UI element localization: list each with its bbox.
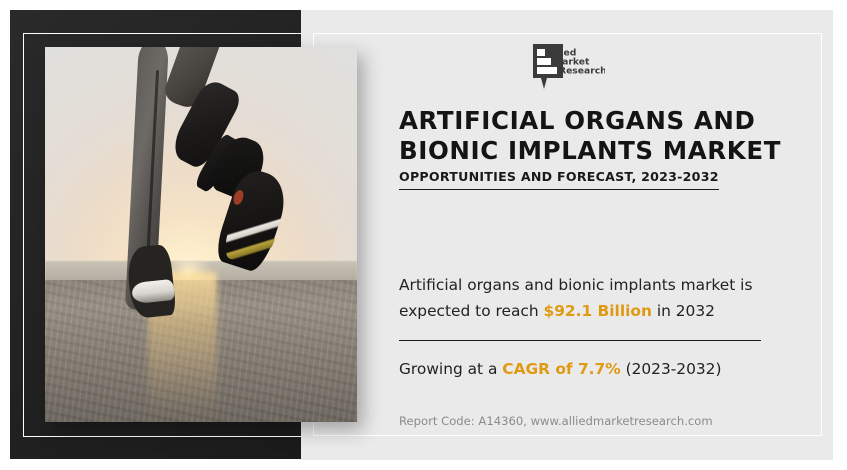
cagr-prefix: Growing at a bbox=[399, 360, 502, 378]
hero-image bbox=[45, 47, 357, 422]
cagr-value: CAGR of 7.7% bbox=[502, 360, 620, 378]
cagr-suffix: (2023-2032) bbox=[621, 360, 722, 378]
section-divider bbox=[399, 340, 761, 341]
logo-line-3: Research bbox=[559, 66, 605, 77]
market-value: $92.1 Billion bbox=[544, 302, 652, 320]
page-title: ARTIFICIAL ORGANS AND BIONIC IMPLANTS MA… bbox=[399, 106, 794, 166]
market-summary-suffix: in 2032 bbox=[652, 302, 715, 320]
runner-with-prosthetic-leg-at-sunset-photo bbox=[45, 47, 357, 422]
allied-market-research-logo-icon: Allied Market Research bbox=[533, 44, 605, 90]
report-subtitle: OPPORTUNITIES AND FORECAST, 2023-2032 bbox=[399, 169, 719, 190]
cagr-statement: Growing at a CAGR of 7.7% (2023-2032) bbox=[399, 358, 781, 380]
report-banner: Allied Market Research ARTIFICIAL ORGANS… bbox=[0, 0, 847, 470]
market-summary: Artificial organs and bionic implants ma… bbox=[399, 272, 781, 324]
report-footer: Report Code: A14360, www.alliedmarketres… bbox=[399, 414, 713, 428]
